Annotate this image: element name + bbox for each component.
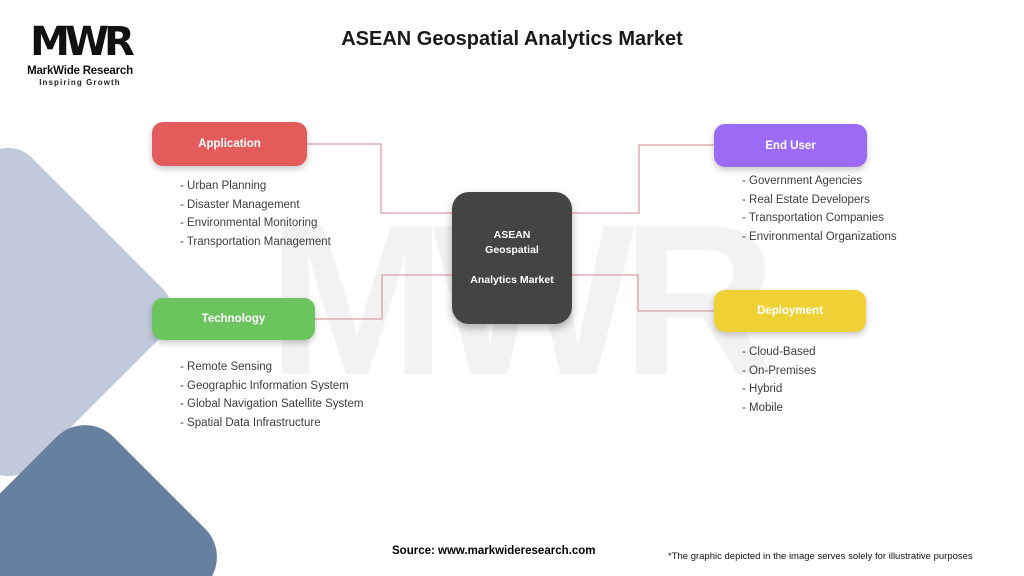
list-item: - Environmental Organizations [742,228,897,247]
node-application[interactable]: Application [152,122,307,166]
list-item: - Transportation Management [180,233,331,252]
infographic-canvas: MWR MWR MarkWide Research Inspiring Grow… [0,0,1024,576]
node-deployment[interactable]: Deployment [714,290,866,332]
list-item: - Transportation Companies [742,209,897,228]
list-end-user: - Government Agencies - Real Estate Deve… [742,172,897,246]
center-node: ASEAN Geospatial Analytics Market [452,192,572,324]
node-application-label: Application [198,138,261,150]
connector-deployment [572,275,714,311]
list-application: - Urban Planning - Disaster Management -… [180,177,331,251]
list-item: - Hybrid [742,380,816,399]
center-node-line2: Analytics Market [460,273,564,288]
list-item: - Remote Sensing [180,358,363,377]
node-technology-label: Technology [202,313,266,325]
node-deployment-label: Deployment [757,305,823,317]
list-item: - On-Premises [742,362,816,381]
node-end-user[interactable]: End User [714,124,867,167]
list-item: - Global Navigation Satellite System [180,395,363,414]
center-node-line1: ASEAN Geospatial [460,228,564,258]
list-item: - Geographic Information System [180,377,363,396]
list-item: - Mobile [742,399,816,418]
node-technology[interactable]: Technology [152,298,315,340]
list-item: - Environmental Monitoring [180,214,331,233]
connector-technology [315,275,452,319]
list-technology: - Remote Sensing - Geographic Informatio… [180,358,363,432]
list-item: - Cloud-Based [742,343,816,362]
connector-enduser [572,145,714,213]
list-item: - Disaster Management [180,196,331,215]
list-item: - Real Estate Developers [742,191,897,210]
footer-disclaimer: *The graphic depicted in the image serve… [668,551,973,562]
list-item: - Government Agencies [742,172,897,191]
list-item: - Urban Planning [180,177,331,196]
footer-source: Source: www.markwideresearch.com [392,545,595,557]
list-item: - Spatial Data Infrastructure [180,414,363,433]
list-deployment: - Cloud-Based - On-Premises - Hybrid - M… [742,343,816,417]
node-end-user-label: End User [765,140,816,152]
